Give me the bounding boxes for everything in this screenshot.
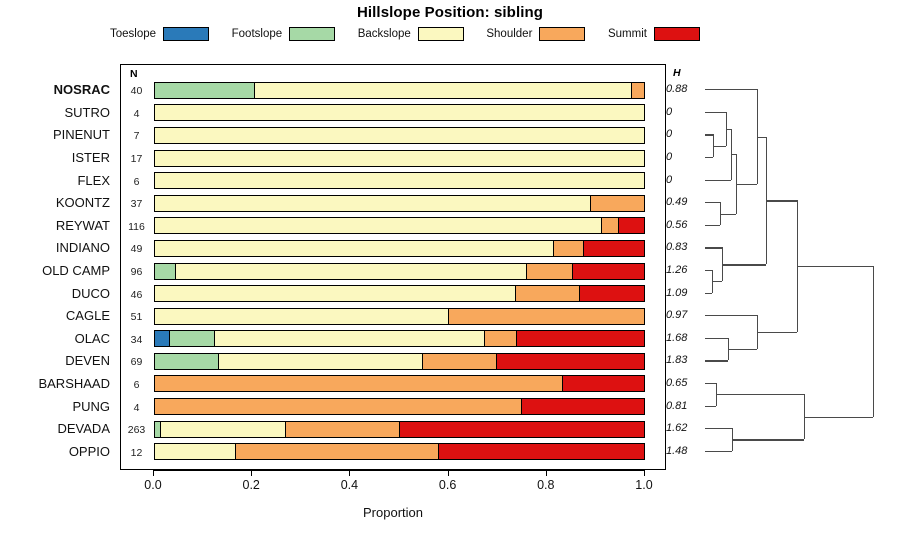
row-h-value: 0.97 [666,309,702,321]
bar-segment-backslope [215,331,484,346]
row-n-value: 7 [121,130,152,142]
bar-segment-backslope [155,241,554,256]
dendrogram-link [705,89,757,90]
dendrogram-link [705,315,757,316]
dendrogram-link [726,129,731,130]
chart-canvas: Hillslope Position: sibling ToeslopeFoot… [0,0,900,540]
row-n-value: 49 [121,243,152,255]
stacked-bar [154,82,645,99]
taxon-label: CAGLE [66,309,110,322]
bar-segment-shoulder [632,83,644,98]
dendrogram-link [705,202,720,203]
legend-item-summit: Summit [608,27,700,41]
row-h-value: 0.56 [666,219,702,231]
stacked-bar [154,330,645,347]
bar-segment-backslope [155,286,516,301]
bar-segment-backslope [155,309,449,324]
bar-segment-shoulder [527,264,572,279]
dendrogram-link [705,247,722,248]
axis-tick [644,470,645,476]
bar-segment-backslope [219,354,423,369]
axis-tick [448,470,449,476]
row-n-value: 34 [121,334,152,346]
stacked-bar [154,217,645,234]
legend-item-backslope: Backslope [358,27,464,41]
row-n-value: 40 [121,85,152,97]
legend-label: Toeslope [110,28,156,40]
bar-segment-shoulder [286,422,401,437]
stacked-bar [154,398,645,415]
taxon-label: INDIANO [56,241,110,254]
bar-segment-footslope [155,264,176,279]
chart-title: Hillslope Position: sibling [0,4,900,21]
row-n-value: 6 [121,379,152,391]
dendrogram-link [766,200,797,201]
row-h-value: 1.62 [666,422,702,434]
bar-segment-summit [497,354,644,369]
legend-label: Footslope [232,28,283,40]
stacked-bar [154,308,645,325]
axis-tick-label: 0.2 [242,478,259,492]
dendrogram-link [705,338,728,339]
dendrogram-link [720,214,736,215]
dendrogram-link [757,137,766,138]
row-n-value: 263 [121,424,152,436]
bar-segment-backslope [155,105,644,120]
legend-swatch-summit [654,27,700,41]
bar-segment-backslope [155,128,644,143]
taxon-label: BARSHAAD [38,377,110,390]
stacked-bar-plot: N 4047176371164996465134696426312 [120,64,666,470]
bar-segment-summit [619,218,644,233]
dendrogram-link [705,451,732,452]
bar-segment-summit [580,286,644,301]
bar-segment-shoulder [449,309,644,324]
row-h-value: 1.83 [666,354,702,366]
dendrogram [700,64,898,470]
bar-segment-summit [439,444,644,459]
taxon-label: OPPIO [69,445,110,458]
dendrogram-link [705,383,716,384]
bar-segment-shoulder [485,331,517,346]
bar-segment-summit [517,331,644,346]
stacked-bar [154,353,645,370]
bar-segment-shoulder [155,399,522,414]
bar-segment-backslope [176,264,528,279]
axis-tick [349,470,350,476]
row-n-value: 4 [121,108,152,120]
row-h-value: 0.49 [666,196,702,208]
stacked-bar [154,104,645,121]
taxon-label: DEVADA [58,422,111,435]
legend-item-footslope: Footslope [232,27,336,41]
dendrogram-link [705,293,712,294]
row-n-value: 37 [121,198,152,210]
h-column-header: H [673,67,681,79]
bar-segment-shoulder [423,354,497,369]
stacked-bar [154,127,645,144]
dendrogram-link [705,225,720,226]
legend-label: Shoulder [486,28,532,40]
axis-tick-label: 0.6 [439,478,456,492]
dendrogram-link [716,394,804,395]
taxon-label: PINENUT [53,128,110,141]
bar-segment-backslope [255,83,632,98]
axis-tick [546,470,547,476]
stacked-bar [154,375,645,392]
bar-segment-footslope [155,354,219,369]
bar-segment-shoulder [516,286,580,301]
legend-item-shoulder: Shoulder [486,27,585,41]
bar-segment-summit [400,422,644,437]
row-n-value: 116 [121,221,152,233]
dendrogram-link [797,266,873,267]
axis-tick-label: 0.4 [341,478,358,492]
stacked-bar [154,195,645,212]
taxon-label: DUCO [72,287,110,300]
bar-segment-backslope [155,444,236,459]
axis-line [153,470,644,471]
row-n-value: 69 [121,356,152,368]
row-h-value: 0 [666,106,702,118]
dendrogram-link [705,157,713,158]
row-h-value: 0.65 [666,377,702,389]
stacked-bar [154,240,645,257]
stacked-bar [154,421,645,438]
row-n-value: 12 [121,447,152,459]
taxon-label: REYWAT [56,219,110,232]
bar-segment-footslope [155,83,255,98]
row-h-value: 1.09 [666,287,702,299]
dendrogram-link [705,180,731,181]
bar-segment-shoulder [591,196,644,211]
axis-tick [251,470,252,476]
bar-segment-shoulder [236,444,439,459]
row-h-value: 1.68 [666,332,702,344]
legend-label: Backslope [358,28,411,40]
taxon-label: ISTER [72,151,110,164]
bar-segment-backslope [155,151,644,166]
taxon-label: NOSRAC [54,83,110,96]
dendrogram-link [705,406,716,407]
dendrogram-link [757,332,797,333]
taxon-label: SUTRO [65,106,111,119]
row-n-value: 51 [121,311,152,323]
legend-swatch-shoulder [539,27,585,41]
taxon-label: FLEX [77,174,110,187]
bar-segment-toeslope [155,331,170,346]
bar-rows: 4047176371164996465134696426312 [121,65,665,469]
x-axis: 0.00.20.40.60.81.0 [120,470,666,510]
dendrogram-link [722,264,766,265]
dendrogram-link [705,428,732,429]
bar-segment-summit [584,241,644,256]
bar-segment-summit [573,264,644,279]
dendrogram-link [731,154,736,155]
row-n-value: 96 [121,266,152,278]
taxon-label: PUNG [72,400,110,413]
dendrogram-link [732,439,804,440]
stacked-bar [154,172,645,189]
row-n-value: 6 [121,176,152,188]
bar-segment-backslope [161,422,286,437]
dendrogram-link [705,112,726,113]
legend: ToeslopeFootslopeBackslopeShoulderSummit [110,24,700,44]
taxon-label: KOONTZ [56,196,110,209]
legend-swatch-toeslope [163,27,209,41]
bar-segment-footslope [170,331,215,346]
dendrogram-link [873,266,874,417]
axis-tick [153,470,154,476]
row-h-value: 0.88 [666,83,702,95]
taxon-label: OLD CAMP [42,264,110,277]
bar-segment-summit [563,376,644,391]
dendrogram-link [705,360,728,361]
dendrogram-link [728,349,757,350]
bar-segment-shoulder [155,376,563,391]
stacked-bar [154,285,645,302]
legend-label: Summit [608,28,647,40]
dendrogram-link [705,270,712,271]
dendrogram-link [713,146,726,147]
taxon-label-column: NOSRACSUTROPINENUTISTERFLEXKOONTZREYWATI… [0,64,116,470]
dendrogram-link [705,134,713,135]
row-h-value: 1.26 [666,264,702,276]
dendrogram-link [736,184,757,185]
dendrogram-link [712,281,722,282]
legend-swatch-backslope [418,27,464,41]
axis-tick-label: 1.0 [635,478,652,492]
bar-segment-shoulder [554,241,584,256]
legend-swatch-footslope [289,27,335,41]
row-h-value: 0.81 [666,400,702,412]
stacked-bar [154,443,645,460]
bar-segment-summit [522,399,644,414]
stacked-bar [154,263,645,280]
row-h-value: 0 [666,128,702,140]
stacked-bar [154,150,645,167]
row-n-value: 17 [121,153,152,165]
taxon-label: OLAC [75,332,110,345]
bar-segment-backslope [155,196,591,211]
row-h-value: 1.48 [666,445,702,457]
axis-tick-label: 0.8 [537,478,554,492]
row-n-value: 4 [121,402,152,414]
bar-segment-backslope [155,218,602,233]
row-h-value: 0.83 [666,241,702,253]
row-h-value: 0 [666,174,702,186]
bar-segment-backslope [155,173,644,188]
legend-item-toeslope: Toeslope [110,27,209,41]
x-axis-title: Proportion [120,505,666,520]
row-h-value: 0 [666,151,702,163]
taxon-label: DEVEN [65,354,110,367]
row-n-value: 46 [121,289,152,301]
bar-segment-shoulder [602,218,619,233]
axis-tick-label: 0.0 [144,478,161,492]
dendrogram-link [804,417,873,418]
